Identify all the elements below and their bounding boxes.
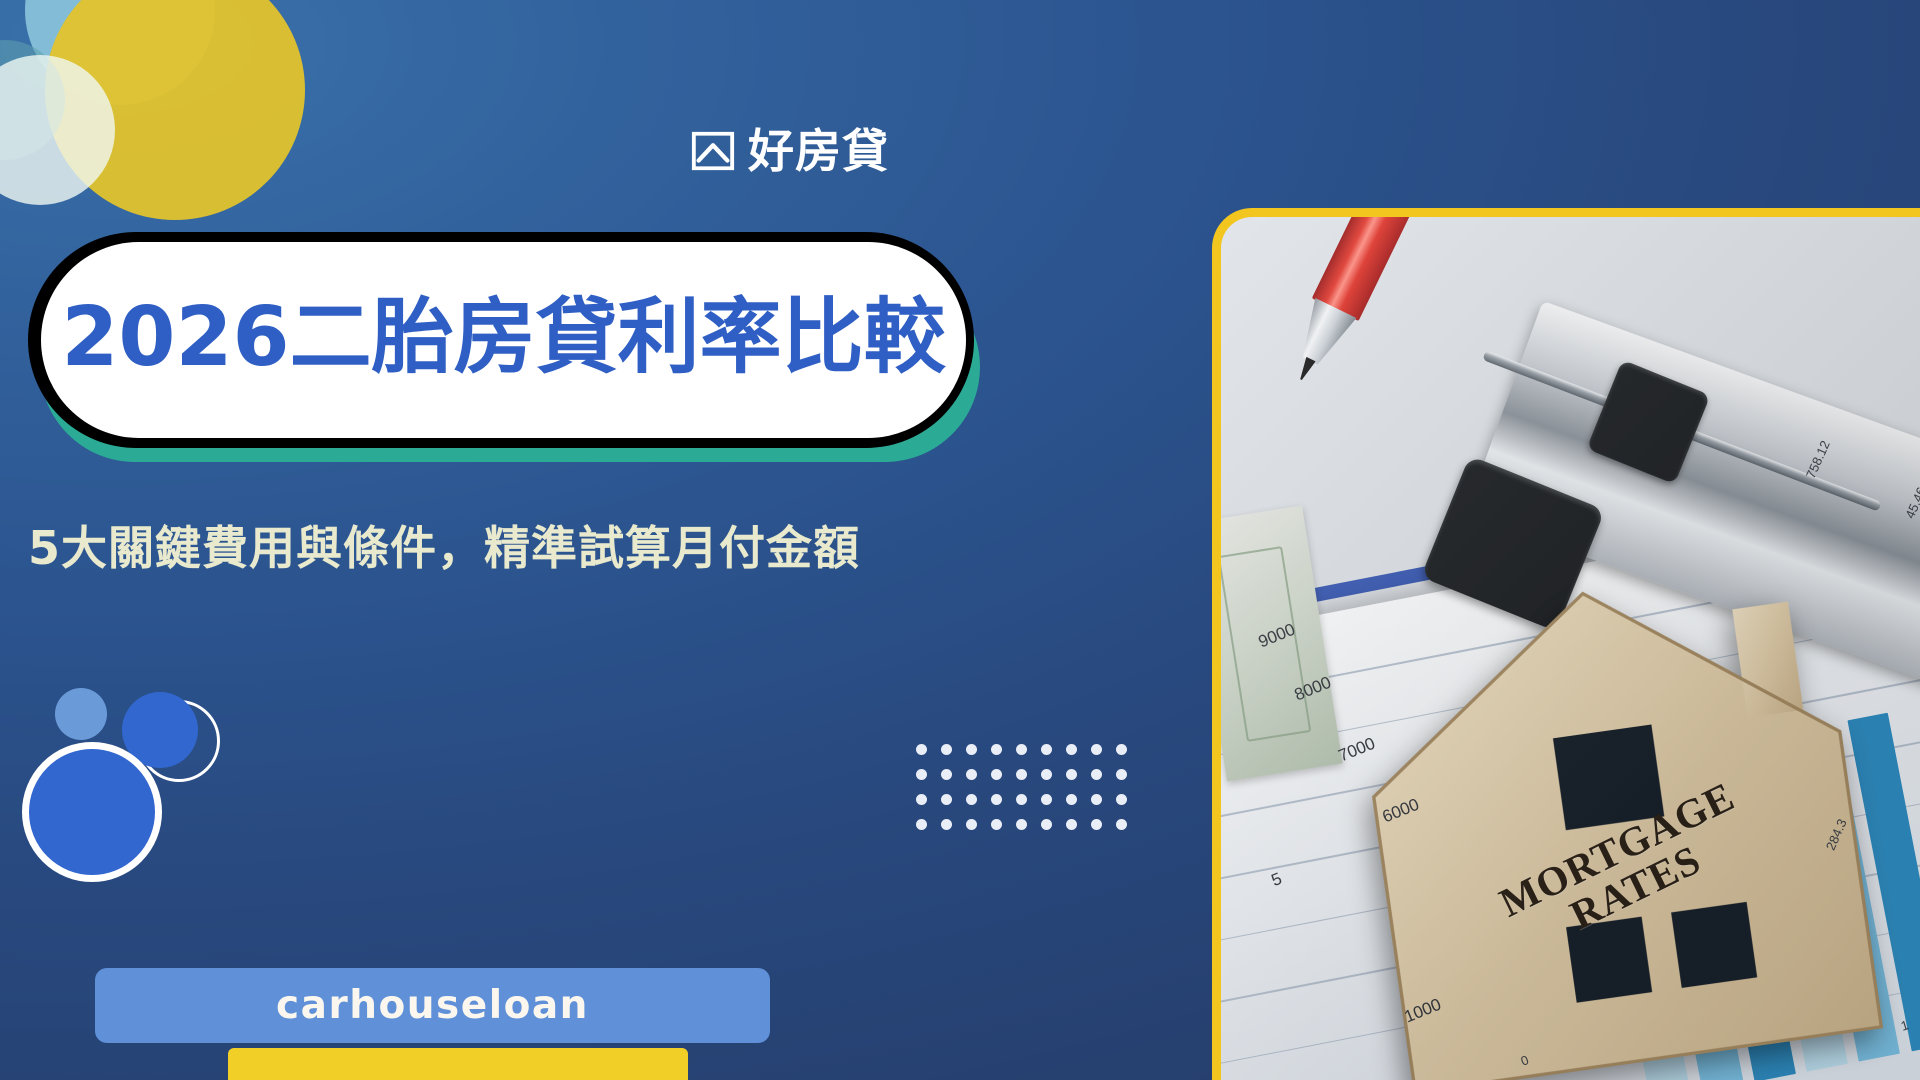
headline-banner: 2026二胎房貸利率比較 <box>28 228 983 468</box>
social-handle: carhouseloan <box>276 983 589 1028</box>
decor-dot <box>1016 769 1027 780</box>
decor-dot <box>1066 769 1077 780</box>
decor-dot <box>941 769 952 780</box>
decor-dot <box>966 744 977 755</box>
decor-dot <box>991 744 1002 755</box>
decor-dot <box>1116 819 1127 830</box>
decor-dot <box>916 769 927 780</box>
decor-dot <box>1091 769 1102 780</box>
page-subtitle: 5大關鍵費用與條件，精準試算月付金額 <box>28 512 860 578</box>
house-roof-icon <box>690 128 736 174</box>
decor-dot <box>1041 769 1052 780</box>
decor-dot <box>1091 819 1102 830</box>
decor-circle-teal <box>0 40 65 160</box>
decor-dot <box>991 769 1002 780</box>
poster-canvas: 好房貸 2026二胎房貸利率比較 5大關鍵費用與條件，精準試算月付金額 carh… <box>0 0 1920 1080</box>
decor-dot <box>966 794 977 805</box>
decor-dot <box>1116 794 1127 805</box>
decor-dot <box>1041 794 1052 805</box>
decor-dot <box>1016 819 1027 830</box>
decor-dot <box>1116 744 1127 755</box>
brand-logo[interactable]: 好房貸 <box>690 128 889 174</box>
decor-dot <box>941 744 952 755</box>
decor-dot <box>1041 744 1052 755</box>
decor-dot <box>1066 744 1077 755</box>
decor-dot <box>941 794 952 805</box>
hero-photo: MORTGAGE RATES 9000 8000 7000 6000 5 100… <box>1221 217 1920 1080</box>
decor-dot <box>1066 819 1077 830</box>
decor-dot <box>1016 744 1027 755</box>
decor-circle-small-blue <box>122 692 198 768</box>
page-title: 2026二胎房貸利率比較 <box>61 297 945 379</box>
decor-circle-small-light <box>55 688 107 740</box>
decor-dot <box>916 744 927 755</box>
decor-dot <box>1091 744 1102 755</box>
social-handle-bar: carhouseloan <box>95 968 770 1043</box>
decor-dot <box>1016 794 1027 805</box>
decor-circle-cyan <box>25 0 215 105</box>
decor-dot <box>916 819 927 830</box>
brand-wordmark: 好房貸 <box>748 128 889 174</box>
decor-dot <box>1066 794 1077 805</box>
headline-white-plate: 2026二胎房貸利率比較 <box>41 242 966 438</box>
decor-dot <box>941 819 952 830</box>
decor-circle-ringed-blue <box>22 742 162 882</box>
decor-dot <box>966 819 977 830</box>
decor-dot <box>916 794 927 805</box>
headline-text: 二胎房貸利率比較 <box>290 290 946 385</box>
decor-dot <box>1091 794 1102 805</box>
decor-dot <box>1041 819 1052 830</box>
decor-circle-yellow <box>45 0 305 220</box>
decor-circle-white <box>0 55 115 205</box>
decor-ring-outline <box>138 700 220 782</box>
decor-dot <box>966 769 977 780</box>
hero-photo-card: MORTGAGE RATES 9000 8000 7000 6000 5 100… <box>1212 208 1920 1080</box>
headline-year: 2026 <box>61 290 289 385</box>
decor-dot-grid <box>916 744 1141 844</box>
footer-accent-bar <box>228 1048 688 1080</box>
decor-dot <box>991 794 1002 805</box>
decor-dot <box>991 819 1002 830</box>
decor-dot <box>1116 769 1127 780</box>
